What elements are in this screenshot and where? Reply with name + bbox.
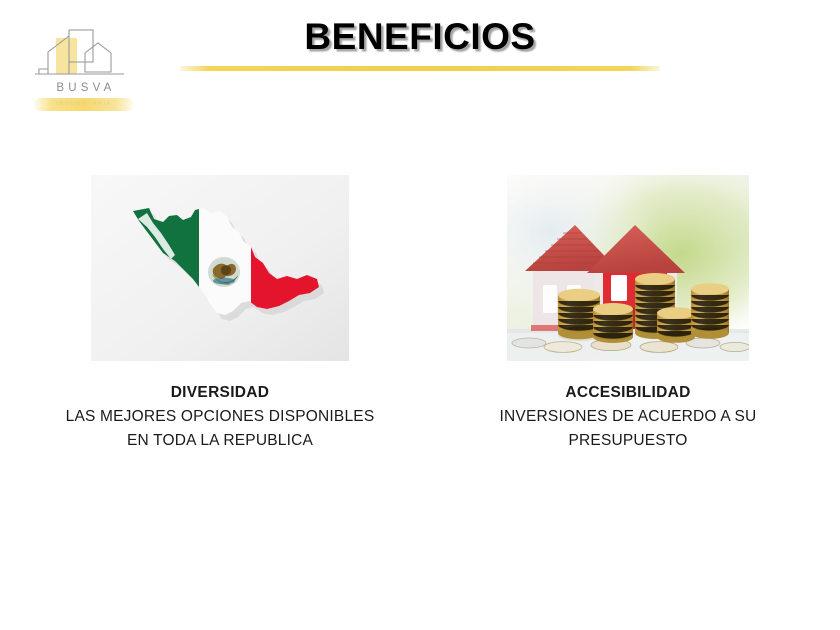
logo-tagline: INMOBILIARIA	[34, 99, 134, 110]
mexico-flag-map-image	[91, 175, 349, 361]
house-and-coins-image	[507, 175, 749, 361]
caption-accesibilidad: ACCESIBILIDAD INVERSIONES DE ACUERDO A S…	[430, 383, 826, 452]
slide-canvas: BUSVA INMOBILIARIA BENEFICIOS	[0, 0, 840, 630]
caption-body-line-1: INVERSIONES DE ACUERDO A SU	[430, 405, 826, 428]
brand-logo[interactable]: BUSVA INMOBILIARIA	[28, 24, 140, 116]
caption-body-line-2: EN TODA LA REPUBLICA	[14, 429, 426, 452]
caption-body-line-2: PRESUPUESTO	[430, 429, 826, 452]
logo-wordmark: BUSVA	[28, 82, 140, 94]
benefit-column-accesibilidad: ACCESIBILIDAD INVERSIONES DE ACUERDO A S…	[430, 175, 826, 452]
page-title: BENEFICIOS	[180, 18, 660, 57]
benefit-column-diversidad: DIVERSIDAD LAS MEJORES OPCIONES DISPONIB…	[14, 175, 426, 452]
caption-title: DIVERSIDAD	[14, 383, 426, 404]
caption-title: ACCESIBILIDAD	[430, 383, 826, 404]
title-underline-rule	[180, 66, 660, 71]
caption-diversidad: DIVERSIDAD LAS MEJORES OPCIONES DISPONIB…	[14, 383, 426, 452]
building-outline-logo-icon	[28, 24, 140, 84]
caption-body-line-1: LAS MEJORES OPCIONES DISPONIBLES	[14, 405, 426, 428]
